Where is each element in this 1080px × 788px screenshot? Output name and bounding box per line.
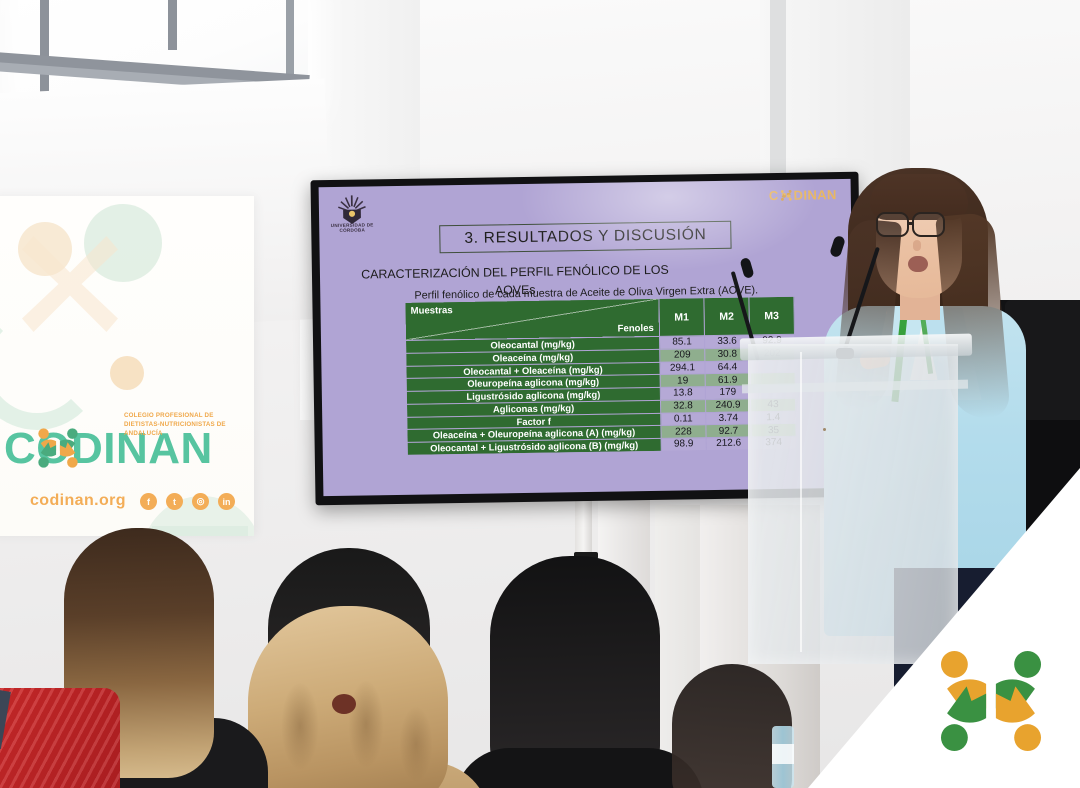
cell-m1: 98.9 [661,438,706,451]
table-corner-header: Muestras Fenoles [405,298,660,340]
banner-social-icons: f t ◎ in [140,493,235,510]
cell-m2: 3.74 [706,411,751,424]
codinan-people-icon [34,424,82,472]
photo-stage: CODINAN COLEGIO PROFESIONAL DE DIETISTAS… [0,0,1080,788]
podium-detail [823,428,826,431]
banner-subtitle: COLEGIO PROFESIONAL DE DIETISTAS-NUTRICI… [124,412,250,439]
window-blind-strip [770,0,786,190]
facebook-icon: f [140,493,157,510]
podium-seam [800,352,802,652]
eyeglasses-lens-left [876,212,909,237]
speaker-mouth [908,256,928,272]
column-header-m3: M3 [749,296,795,335]
cell-m1: 294.1 [660,361,705,374]
cell-m2: 92.7 [706,424,751,437]
cell-m2: 212.6 [706,437,751,450]
window-mullion [168,0,177,50]
audience-hair-tie [332,694,356,714]
audience-member-2 [232,548,472,788]
cell-m2: 240.9 [705,399,750,412]
table-header: Muestras Fenoles M1 M2 M3 [405,296,795,340]
decorative-blob [110,356,144,390]
slide-codinan-c: C [769,188,779,203]
cell-m1: 85.1 [659,336,704,349]
water-bottle-label [772,744,794,764]
twitter-icon: t [166,493,183,510]
corner-row-label: Muestras [410,305,452,317]
cell-m1: 209 [660,348,705,361]
slide-section-title-box: 3. RESULTADOS Y DISCUSIÓN [439,221,731,254]
table-header-row: Muestras Fenoles M1 M2 M3 [405,296,795,340]
cell-m1: 0.11 [661,412,706,425]
cell-m1: 228 [661,425,706,438]
banner-logo: CODINAN COLEGIO PROFESIONAL DE DIETISTAS… [4,418,248,484]
codinan-people-icon [780,189,793,202]
cell-m1: 32.8 [660,399,705,412]
corner-col-label: Fenoles [618,323,654,335]
slide-section-title: 3. RESULTADOS Y DISCUSIÓN [464,226,706,248]
codinan-rollup-banner: CODINAN COLEGIO PROFESIONAL DE DIETISTAS… [0,196,254,536]
phenolic-profile-table: Muestras Fenoles M1 M2 M3 Oleocantal (mg… [404,296,796,456]
codinan-corner-logo [930,640,1052,762]
eyeglasses-lens-right [912,212,945,237]
universidad-caption: UNIVERSIDAD DE CÓRDOBA [321,222,383,233]
cell-m2: 64.4 [705,360,750,373]
cell-m1: 13.8 [660,387,705,400]
linkedin-icon: in [218,493,235,510]
red-chair-texture [0,688,120,788]
instagram-icon: ◎ [192,493,209,510]
speaker-nose [913,240,921,251]
microphone-base [836,348,854,359]
slide-codinan-logo: C DINAN [769,187,837,203]
cell-m1: 19 [660,374,705,387]
banner-url: codinan.org [30,492,126,510]
column-header-m1: M1 [659,298,705,337]
audience-member-3 [470,556,680,788]
window-mullion [40,0,49,100]
eyeglasses-bridge [909,222,914,225]
decorative-arc [0,300,102,430]
table-body: Oleocantal (mg/kg) 85.1 33.6 92.9 Oleace… [406,334,797,455]
